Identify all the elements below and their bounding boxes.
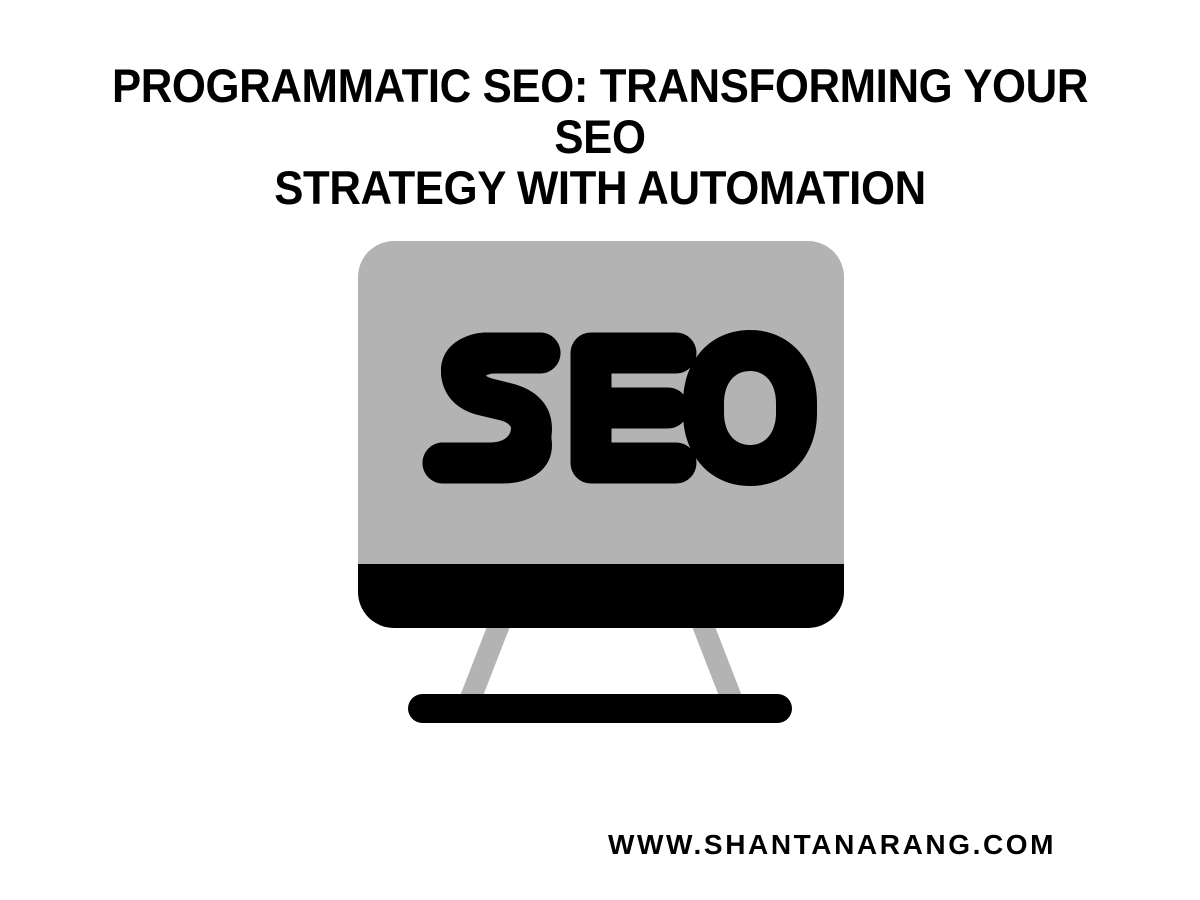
title-block: PROGRAMMATIC SEO: TRANSFORMING YOUR SEO … [60,60,1140,213]
monitor-bezel-bar [358,564,844,628]
monitor-stand-right-leg [691,624,742,696]
banner-canvas: PROGRAMMATIC SEO: TRANSFORMING YOUR SEO … [0,0,1200,900]
footer-website-url: WWW.SHANTANARANG.COM [608,829,1056,861]
page-title: PROGRAMMATIC SEO: TRANSFORMING YOUR SEO … [98,60,1102,213]
seo-letter-e [571,333,697,484]
monitor-stand-base [408,694,792,723]
seo-monitor-icon [355,238,847,730]
monitor-stand-left-leg [460,624,511,696]
monitor-stand-legs [460,624,742,696]
